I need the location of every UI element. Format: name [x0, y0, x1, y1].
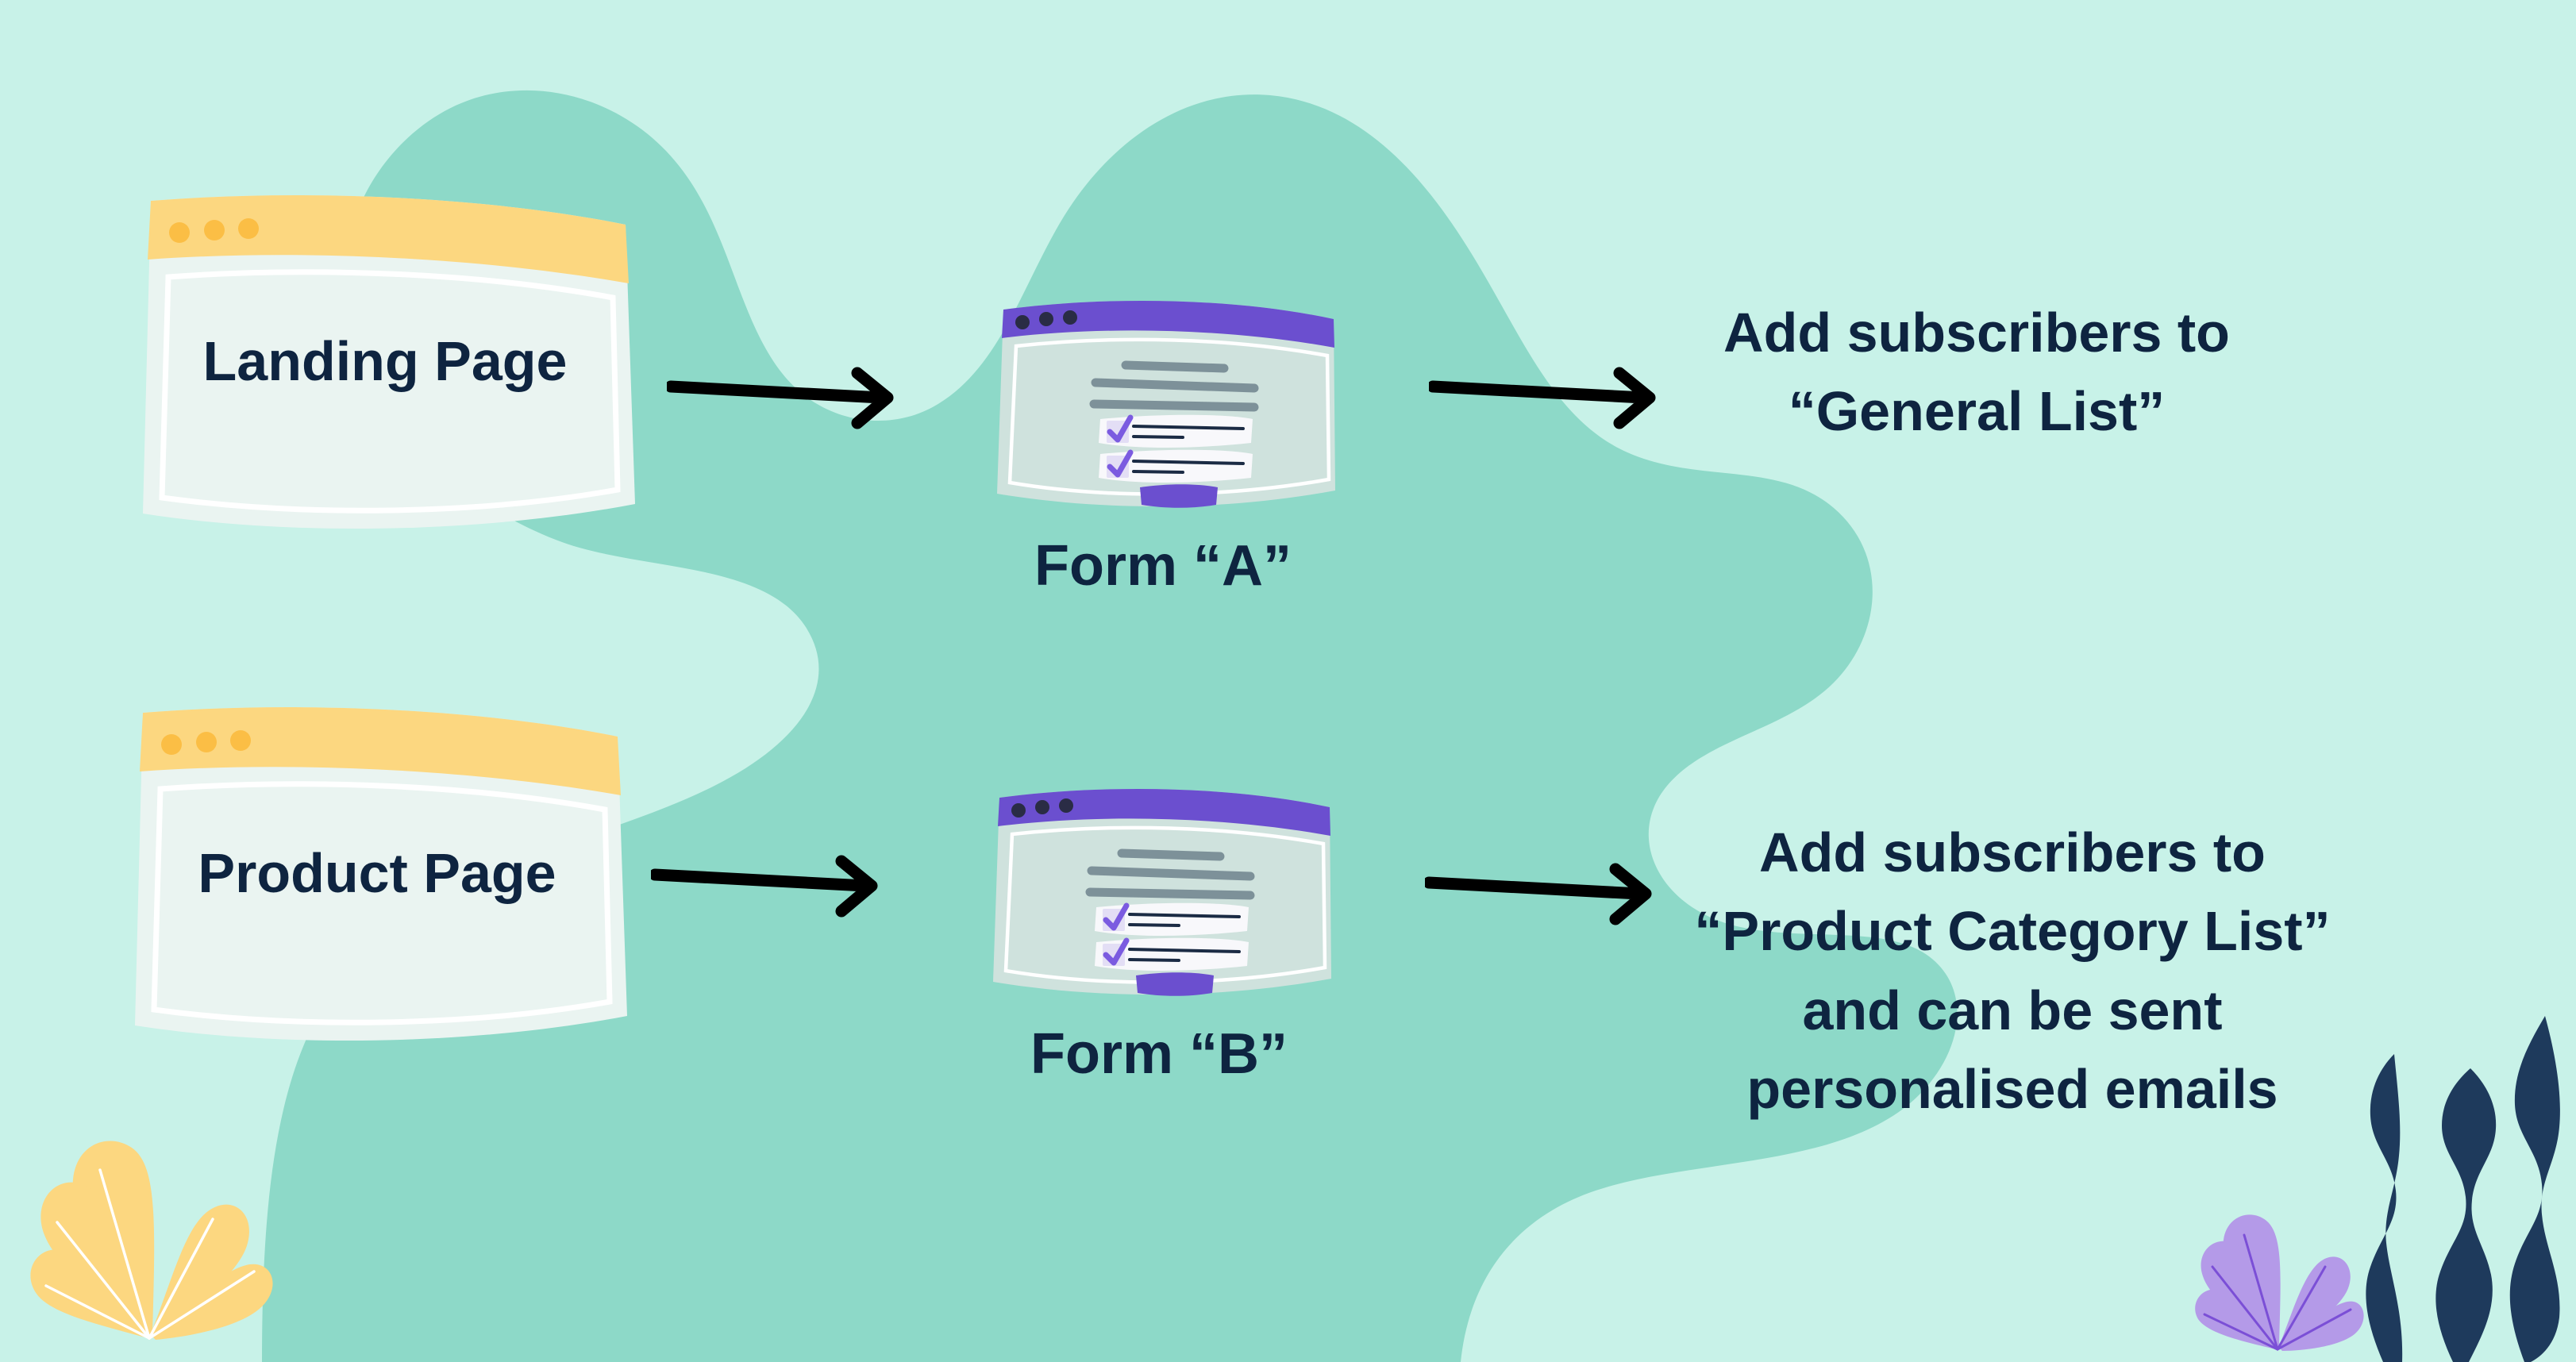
arrow-right-icon [667, 361, 905, 433]
arrow-right-icon [1425, 857, 1663, 929]
product-page-title: Product Page [119, 841, 635, 905]
form-dot-icon [1039, 312, 1053, 326]
form-dot-icon [1063, 310, 1077, 325]
form-checkbox-row[interactable] [1099, 415, 1253, 448]
form-dot-icon [1011, 803, 1026, 818]
window-dot-icon [196, 732, 217, 752]
arrow-right-icon [1429, 361, 1667, 433]
diagram-canvas: Landing Page [0, 0, 2576, 1362]
window-dot-icon [161, 734, 182, 755]
purple-fan-plant-icon [2187, 1191, 2370, 1362]
form-b-window[interactable] [980, 774, 1338, 1012]
form-b-label: Form “B” [980, 1022, 1338, 1087]
landing-page-title: Landing Page [127, 329, 643, 393]
form-submit-button[interactable] [1140, 484, 1218, 508]
form-text-line [1092, 871, 1250, 876]
result-line: “General List” [1691, 372, 2262, 451]
result-product-category-list: Add subscribers to “Product Category Lis… [1683, 814, 2342, 1129]
form-checkbox-row[interactable] [1095, 903, 1249, 936]
form-checkbox-row[interactable] [1099, 450, 1253, 483]
form-text-line [1126, 365, 1224, 368]
window-dot-icon [169, 222, 190, 243]
result-line: personalised emails [1683, 1050, 2342, 1129]
window-dot-icon [238, 218, 259, 239]
form-submit-button[interactable] [1136, 972, 1214, 996]
form-dot-icon [1015, 315, 1030, 329]
form-dot-icon [1059, 798, 1073, 813]
window-dot-icon [204, 220, 225, 240]
arrow-right-icon [651, 849, 889, 921]
form-text-line [1090, 892, 1250, 895]
form-dot-icon [1035, 800, 1049, 814]
result-line: and can be sent [1683, 971, 2342, 1050]
yellow-fan-plant-icon [16, 1095, 286, 1362]
landing-page-window[interactable]: Landing Page [127, 187, 643, 548]
product-page-window[interactable]: Product Page [119, 698, 635, 1060]
form-text-line [1095, 383, 1254, 388]
field-line [1134, 471, 1183, 472]
result-line: “Product Category List” [1683, 892, 2342, 971]
result-general-list: Add subscribers to “General List” [1691, 294, 2262, 452]
form-text-line [1122, 853, 1220, 856]
field-line [1130, 960, 1179, 960]
field-line [1134, 437, 1183, 437]
window-dot-icon [230, 730, 251, 751]
result-line: Add subscribers to [1691, 294, 2262, 372]
form-checkbox-row[interactable] [1095, 938, 1249, 971]
form-text-line [1094, 404, 1254, 407]
result-line: Add subscribers to [1683, 814, 2342, 892]
field-line [1130, 925, 1179, 925]
form-a-label: Form “A” [984, 533, 1342, 598]
form-a-window[interactable] [984, 286, 1342, 524]
